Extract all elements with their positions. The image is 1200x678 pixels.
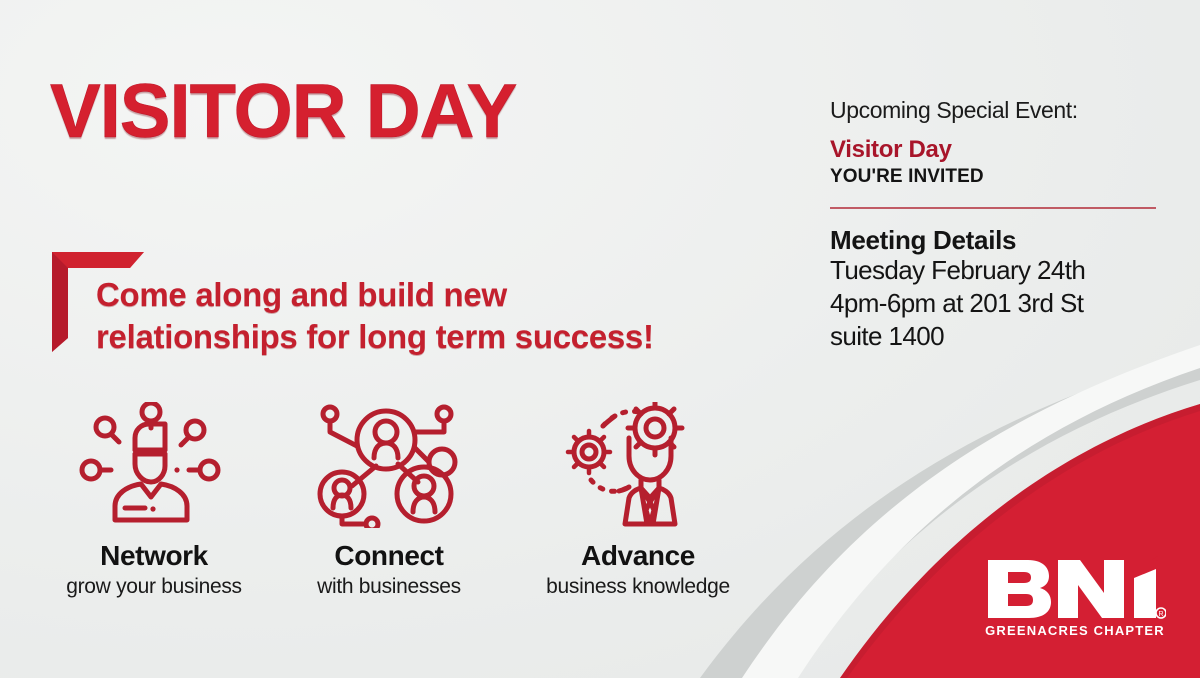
linked-people-circles-icon [314,400,464,530]
feature-subtitle: business knowledge [546,575,730,599]
bni-wordmark-icon: R [984,556,1166,622]
feature-title: Network [100,540,208,572]
event-name: Visitor Day [830,137,1160,163]
meeting-detail-time-address: 4pm-6pm at 201 3rd St [830,287,1160,320]
event-info-panel: Upcoming Special Event: Visitor Day YOU'… [830,98,1160,353]
event-flyer: VISITOR DAY Come along and build new rel… [0,0,1200,678]
invited-label: YOU'RE INVITED [830,166,1160,188]
feature-item-connect: Connect with businesses [274,400,504,599]
upcoming-event-kicker: Upcoming Special Event: [830,98,1160,123]
svg-text:R: R [1158,611,1163,618]
feature-subtitle: with businesses [317,575,461,599]
feature-title: Connect [334,540,443,572]
tagline-line-2: relationships for long term success! [96,316,786,358]
meeting-detail-date: Tuesday February 24th [830,254,1160,287]
divider [830,207,1156,209]
feature-list: Network grow your business [34,400,774,599]
feature-item-advance: Advance business knowledge [504,400,772,599]
bni-chapter-name: GREENACRES CHAPTER [975,623,1175,638]
page-title: VISITOR DAY [50,74,516,150]
feature-subtitle: grow your business [66,575,242,599]
person-network-nodes-icon [79,400,229,530]
feature-title: Advance [581,540,695,572]
meeting-details-title: Meeting Details [830,226,1160,255]
feature-item-network: Network grow your business [34,400,274,599]
meeting-detail-suite: suite 1400 [830,320,1160,353]
tagline: Come along and build new relationships f… [96,274,786,358]
bni-logo: R GREENACRES CHAPTER [975,556,1175,638]
tagline-line-1: Come along and build new [96,274,786,316]
businessperson-gears-icon [563,400,713,530]
